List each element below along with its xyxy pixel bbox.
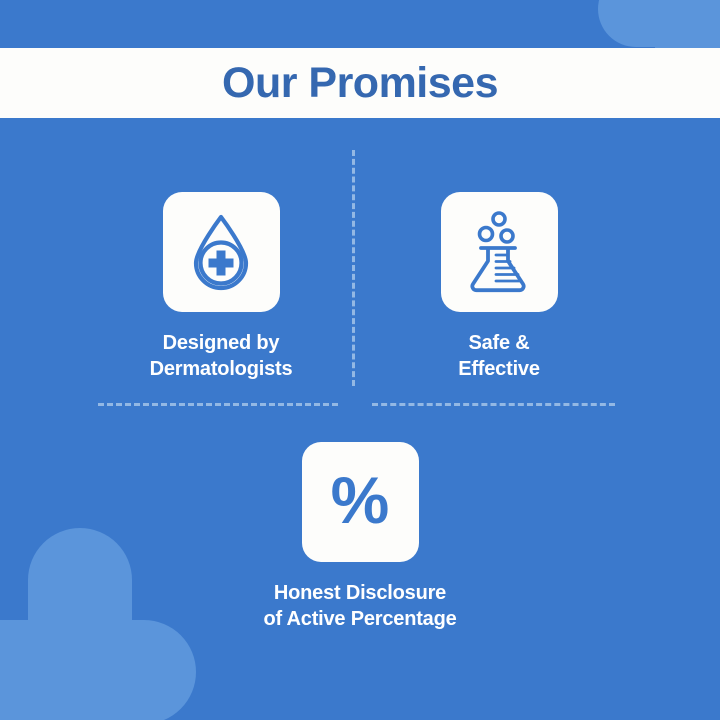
- cross-arm-horizontal: [0, 620, 196, 720]
- cross-arm-horizontal: [598, 0, 720, 47]
- promises-row-top: Designed by Dermatologists Safe & E: [0, 192, 720, 383]
- promise-label: Honest Disclosure of Active Percentage: [263, 580, 456, 633]
- flask-bubbles-icon: [462, 211, 536, 293]
- droplet-plus-icon: [185, 212, 257, 292]
- icon-card: [163, 192, 280, 312]
- percent-icon: %: [331, 467, 390, 533]
- promise-label: Safe & Effective: [458, 330, 540, 383]
- page-title: Our Promises: [222, 62, 498, 105]
- promises-card: Our Promises Designed by Dermatologists: [0, 0, 720, 720]
- header-banner: Our Promises: [0, 48, 720, 118]
- promise-label: Designed by Dermatologists: [150, 330, 293, 383]
- promise-item-honest-disclosure: % Honest Disclosure of Active Percentage: [0, 442, 720, 633]
- divider-horizontal-right: [372, 403, 615, 406]
- promise-item-safe-effective: Safe & Effective: [381, 192, 617, 383]
- promise-item-dermatologists: Designed by Dermatologists: [103, 192, 339, 383]
- row-spacer: [339, 192, 381, 383]
- icon-card: %: [302, 442, 419, 562]
- divider-horizontal-left: [98, 403, 338, 406]
- icon-card: [441, 192, 558, 312]
